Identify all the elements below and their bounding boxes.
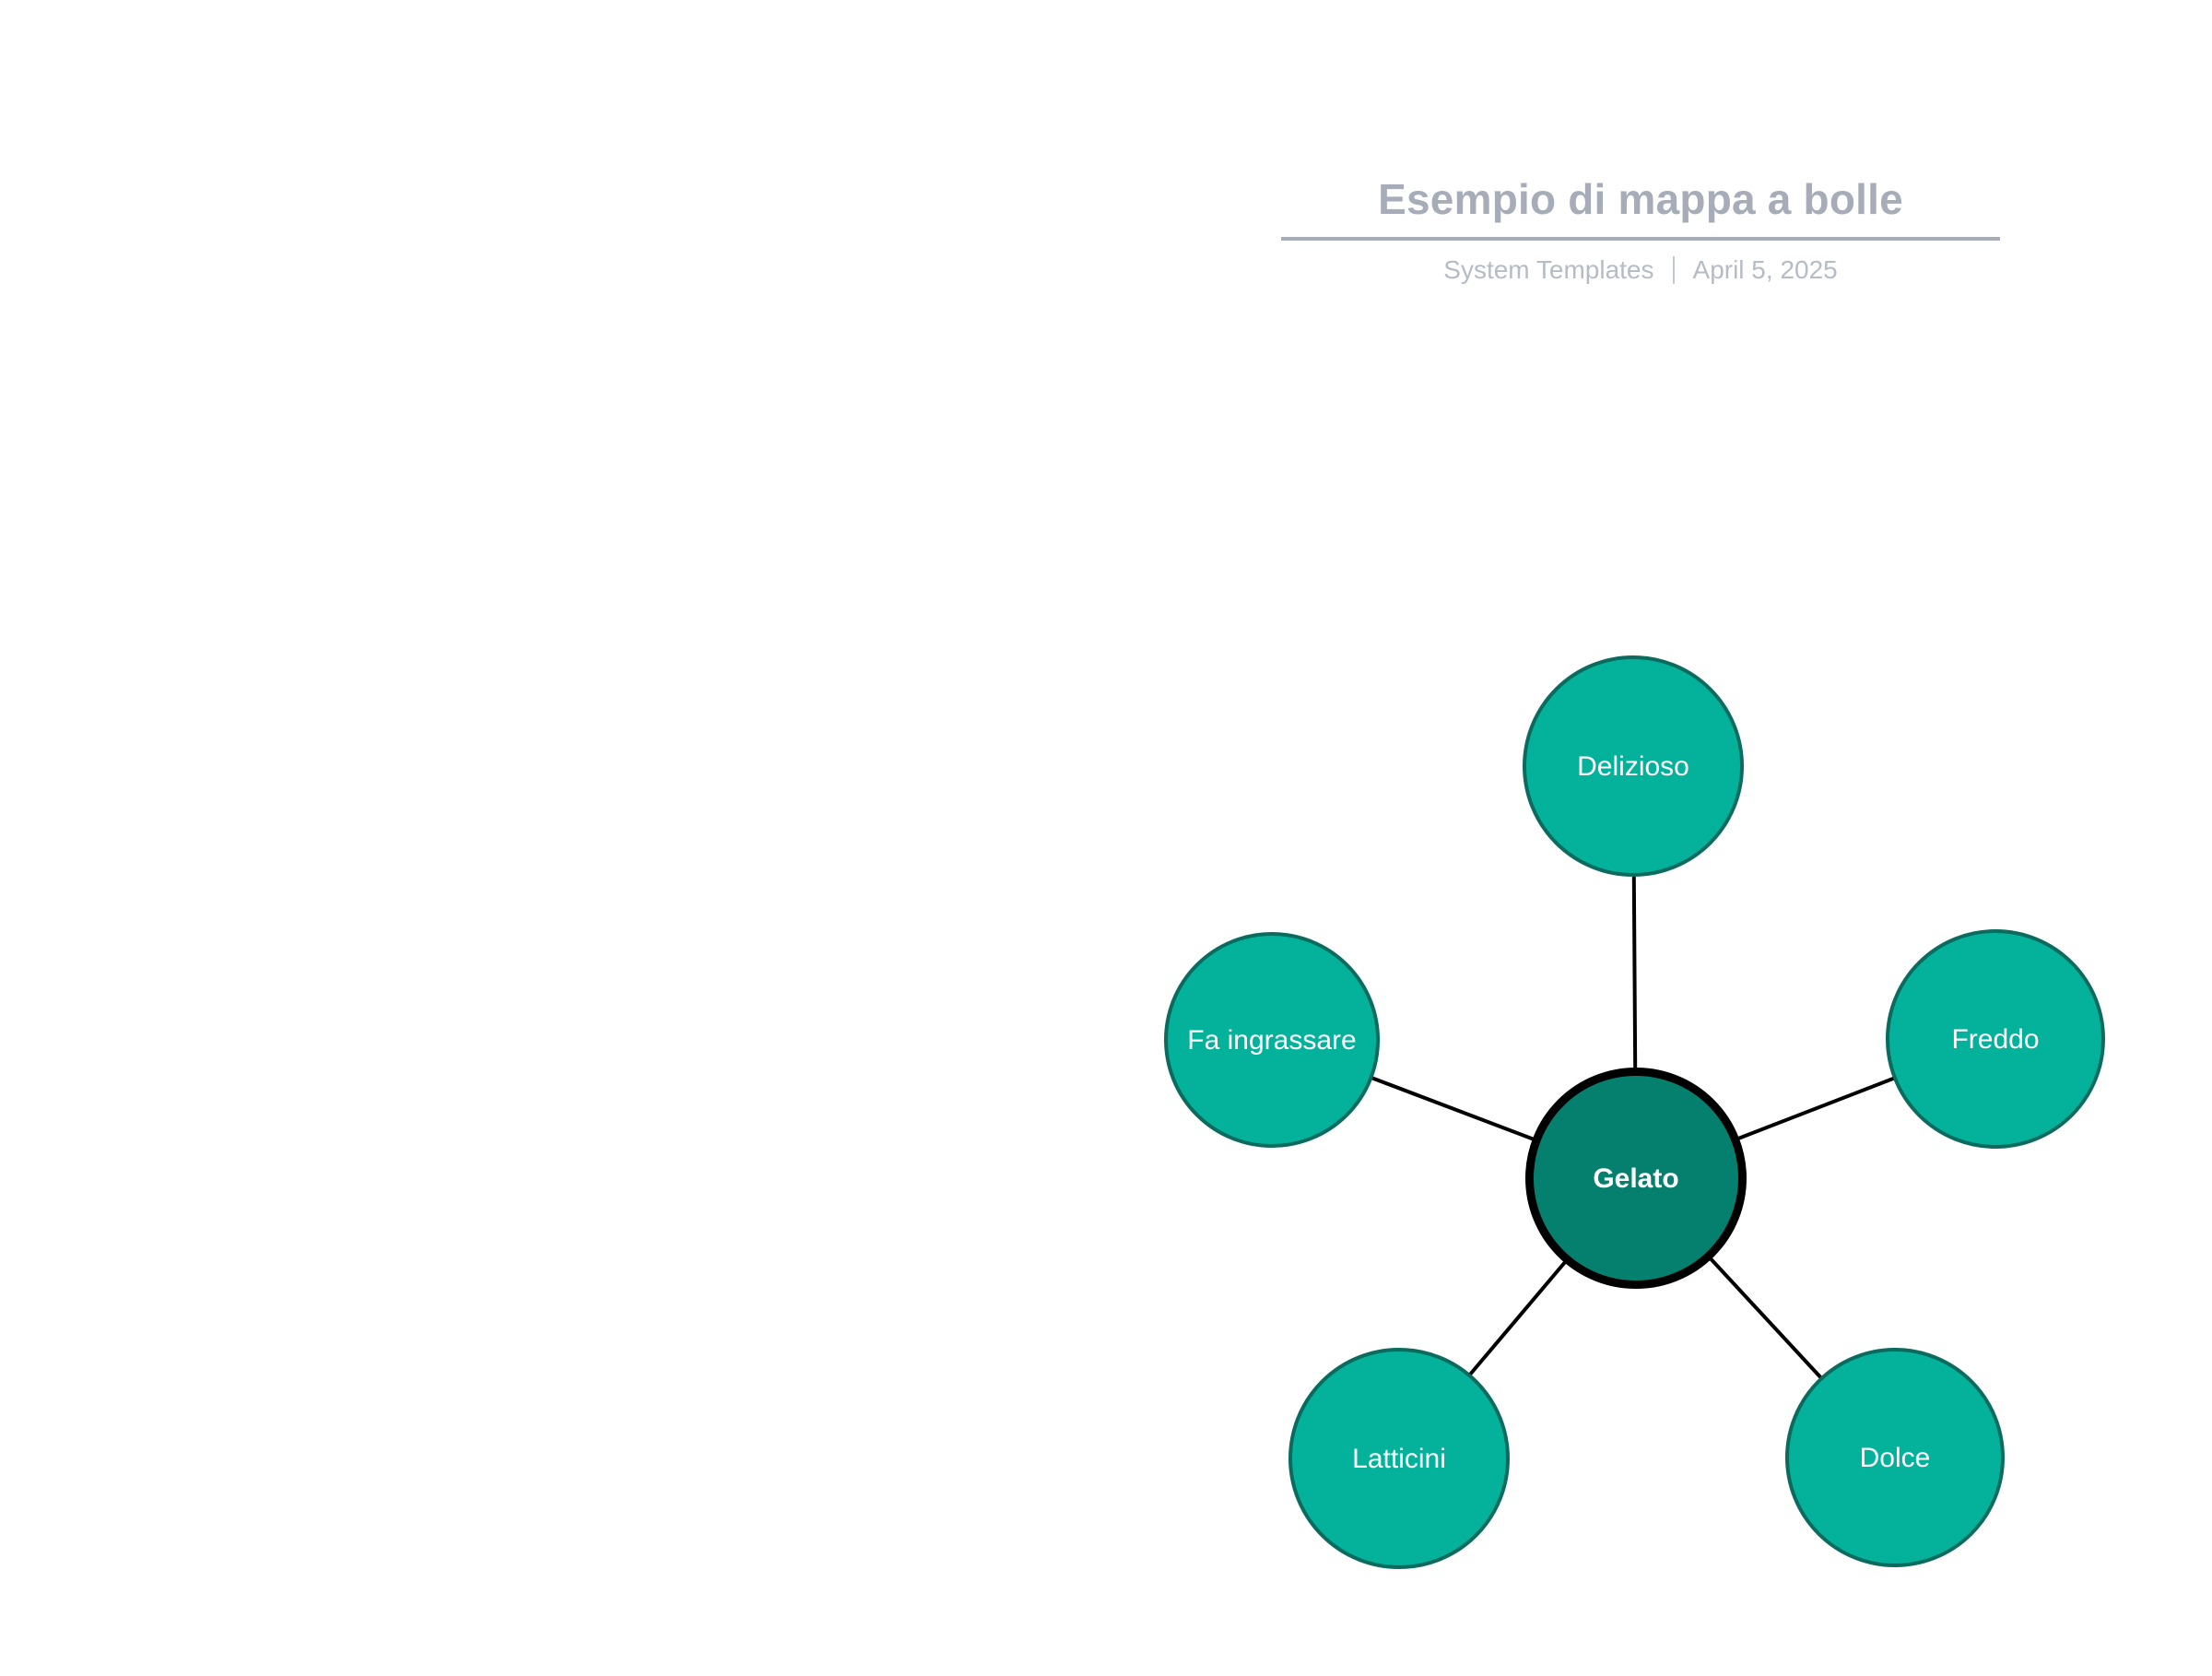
bubble-node-dolce[interactable]: Dolce [1785, 1348, 2005, 1567]
bubble-node-label: Delizioso [1568, 751, 1699, 782]
bubble-node-label: Freddo [1942, 1024, 2048, 1055]
bubble-node-label: Fa ingrassare [1178, 1025, 1365, 1056]
connector-line-freddo [1737, 1078, 1895, 1139]
bubble-node-label: Dolce [1851, 1443, 1940, 1473]
bubble-node-label: Latticini [1343, 1444, 1455, 1474]
bubble-node-fa-ingrassare[interactable]: Fa ingrassare [1164, 932, 1380, 1148]
connector-line-fa-ingrassare [1371, 1078, 1535, 1139]
connector-line-dolce [1710, 1258, 1821, 1379]
bubble-map-diagram: DeliziosoFreddoDolceLatticiniFa ingrassa… [0, 0, 2212, 1676]
page-canvas: Esempio di mappa a bolle System Template… [0, 0, 2212, 1676]
bubble-node-label: Gelato [1583, 1163, 1688, 1194]
bubble-node-latticini[interactable]: Latticini [1288, 1348, 1510, 1569]
bubble-node-delizioso[interactable]: Delizioso [1523, 655, 1744, 877]
connector-line-latticini [1469, 1261, 1566, 1375]
bubble-node-freddo[interactable]: Freddo [1886, 929, 2105, 1149]
connector-line-delizioso [1634, 875, 1635, 1069]
bubble-node-central[interactable]: Gelato [1525, 1068, 1747, 1289]
